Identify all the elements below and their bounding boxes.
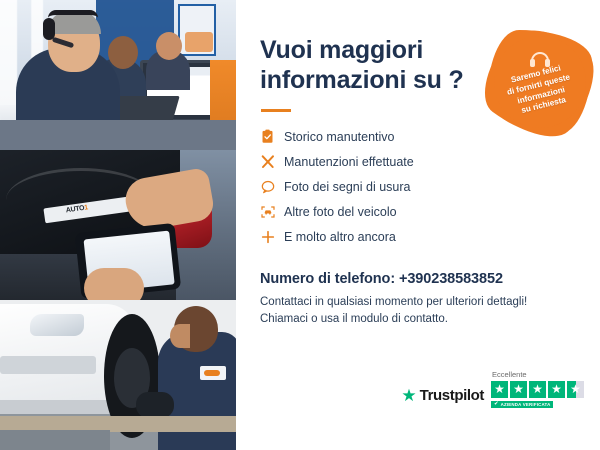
star-5-half: ★ [567, 381, 584, 398]
trustpilot-widget[interactable]: ★ Trustpilot Eccellente ★ ★ ★ ★ ★ ✔ AZIE… [401, 370, 584, 409]
list-item: Manutenzioni effettuate [260, 149, 576, 174]
clipboard-check-icon [260, 129, 284, 144]
list-item-label: Storico manutentivo [284, 130, 394, 144]
crossed-tools-icon [260, 154, 284, 170]
uniform-logo-badge [200, 366, 226, 380]
list-item-label: Altre foto del veicolo [284, 205, 397, 219]
feature-list: Storico manutentivo Manutenzioni effettu… [260, 124, 576, 249]
mechanic-wheel-inspection-photo [0, 300, 236, 450]
mechanic-face [170, 324, 190, 348]
trustpilot-logo: ★ Trustpilot [401, 387, 484, 408]
page-title: Vuoi maggiori informazioni su ? [260, 36, 490, 95]
trustpilot-star-icon: ★ [401, 387, 416, 404]
headset-icon-left-cup [530, 59, 535, 67]
second-agent-head [108, 36, 138, 69]
star-glyph: ★ [513, 383, 524, 395]
wall-poster [178, 4, 216, 56]
inspector-hand-lower [84, 268, 144, 300]
content-panel: Vuoi maggiori informazioni su ? Saremo f… [236, 0, 600, 450]
title-underline-rule [261, 109, 291, 112]
trustpilot-rating-label: Eccellente [492, 370, 527, 379]
trustpilot-rating-block: Eccellente ★ ★ ★ ★ ★ ✔ AZIENDA VERIFICAT… [491, 370, 584, 409]
star-3: ★ [529, 381, 546, 398]
list-item-label: E molto altro ancora [284, 230, 396, 244]
headset-icon [530, 52, 550, 67]
star-glyph: ★ [532, 383, 543, 395]
star-glyph: ★ [494, 383, 505, 395]
star-4: ★ [548, 381, 565, 398]
headset-band [48, 10, 98, 18]
list-item: Foto dei segni di usura [260, 174, 576, 199]
phone-number-line[interactable]: Numero di telefono: +390238583852 [260, 271, 576, 287]
verified-business-badge: ✔ AZIENDA VERIFICATA [491, 401, 553, 409]
star-1: ★ [491, 381, 508, 398]
desk-front-panel [0, 120, 236, 150]
vehicle-inspection-tablet-photo: AUTO1 [0, 150, 236, 300]
list-item-label: Foto dei segni di usura [284, 180, 410, 194]
car-photo-frame-icon [260, 204, 284, 220]
lift-ramp [0, 430, 110, 450]
verified-badge-label: AZIENDA VERIFICATA [501, 402, 551, 407]
plus-icon [260, 229, 284, 245]
speech-bubble-icon [260, 179, 284, 195]
trustpilot-stars: ★ ★ ★ ★ ★ [491, 381, 584, 398]
callout-badge: Saremo felici di fornirti queste informa… [488, 30, 592, 134]
contact-subtext-line-1: Contattaci in qualsiasi momento per ulte… [260, 294, 576, 311]
star-glyph: ★ [551, 383, 562, 395]
star-glyph: ★ [570, 383, 581, 395]
star-2: ★ [510, 381, 527, 398]
trustpilot-wordmark: Trustpilot [420, 387, 484, 404]
car-grille [0, 356, 96, 374]
promo-banner: AUTO1 Vuoi maggiori informazioni su ? [0, 0, 600, 450]
check-icon: ✔ [494, 402, 499, 408]
list-item: Altre foto del veicolo [260, 199, 576, 224]
badge-text: Saremo felici di fornirti queste informa… [498, 60, 582, 120]
car-headlight [30, 314, 84, 336]
photo-column: AUTO1 [0, 0, 236, 450]
background-agent-head [156, 32, 182, 60]
contact-subtext: Contattaci in qualsiasi momento per ulte… [260, 294, 576, 327]
list-item-label: Manutenzioni effettuate [284, 155, 414, 169]
contact-subtext-line-2: Chiamaci o usa il modulo di contatto. [260, 311, 576, 328]
mechanic-glove [136, 392, 174, 418]
badge-content: Saremo felici di fornirti queste informa… [488, 30, 592, 134]
list-item: E molto altro ancora [260, 224, 576, 249]
call-centre-agents-photo [0, 0, 236, 150]
